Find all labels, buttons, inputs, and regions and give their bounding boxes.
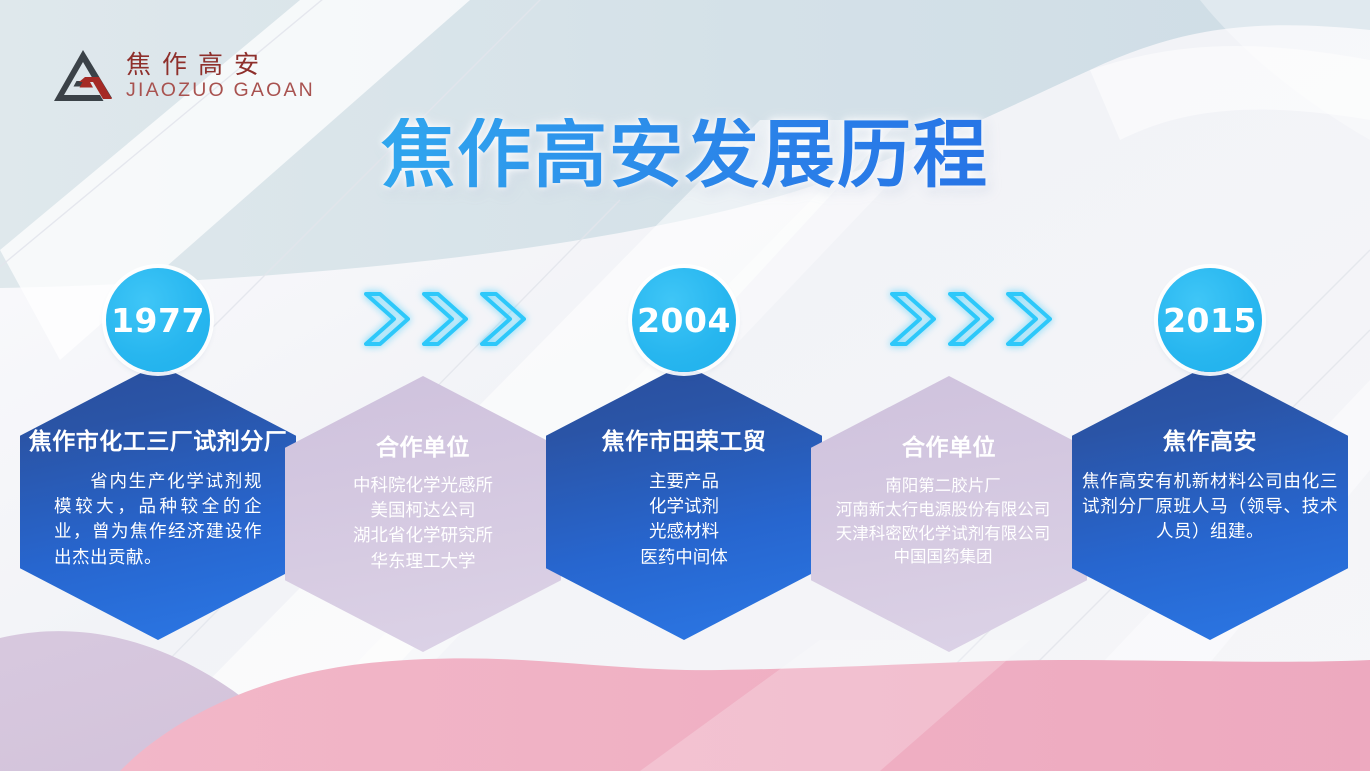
list-item: 化学试剂 (546, 495, 822, 520)
timeline-card-2004[interactable]: 焦作市田荣工贸 主要产品 化学试剂 光感材料 医药中间体 (546, 364, 822, 640)
chevron-right-icon (886, 288, 942, 350)
timeline: 1977 焦作市化工三厂试剂分厂 省内生产化学试剂规模较大，品种较全的企业，曾为… (0, 0, 1370, 771)
list-item: 美国柯达公司 (285, 499, 561, 524)
card-body: 主要产品 化学试剂 光感材料 医药中间体 (546, 470, 822, 571)
chevron-right-icon (418, 288, 474, 350)
list-item: 主要产品 (546, 470, 822, 495)
timeline-card-partners-2[interactable]: 合作单位 南阳第二胶片厂 河南新太行电源股份有限公司 天津科密欧化学试剂有限公司… (811, 376, 1087, 652)
timeline-card-partners-1[interactable]: 合作单位 中科院化学光感所 美国柯达公司 湖北省化学研究所 华东理工大学 (285, 376, 561, 652)
list-item: 中国国药集团 (793, 545, 1093, 569)
card-title: 焦作高安 (1163, 422, 1257, 456)
list-item: 华东理工大学 (285, 550, 561, 575)
chevron-right-icon (1002, 288, 1058, 350)
timeline-card-1977[interactable]: 焦作市化工三厂试剂分厂 省内生产化学试剂规模较大，品种较全的企业，曾为焦作经济建… (20, 364, 296, 640)
card-body: 南阳第二胶片厂 河南新太行电源股份有限公司 天津科密欧化学试剂有限公司 中国国药… (793, 474, 1093, 569)
chevron-right-icon (360, 288, 416, 350)
year-badge-2004[interactable]: 2004 (632, 268, 736, 372)
list-item: 南阳第二胶片厂 (793, 474, 1093, 498)
chevron-right-icon (476, 288, 532, 350)
card-body: 省内生产化学试剂规模较大，品种较全的企业，曾为焦作经济建设作出杰出贡献。 (54, 470, 262, 571)
year-badge-2015[interactable]: 2015 (1158, 268, 1262, 372)
timeline-card-2015[interactable]: 焦作高安 焦作高安有机新材料公司由化三试剂分厂原班人马（领导、技术人员）组建。 (1072, 364, 1348, 640)
list-item: 河南新太行电源股份有限公司 (793, 498, 1093, 522)
list-item: 中科院化学光感所 (285, 474, 561, 499)
list-item: 天津科密欧化学试剂有限公司 (793, 522, 1093, 546)
card-body: 焦作高安有机新材料公司由化三试剂分厂原班人马（领导、技术人员）组建。 (1082, 470, 1338, 546)
card-title: 焦作市田荣工贸 (602, 422, 767, 456)
connector-arrows-2 (886, 288, 1058, 350)
card-body: 中科院化学光感所 美国柯达公司 湖北省化学研究所 华东理工大学 (285, 474, 561, 575)
year-badge-1977[interactable]: 1977 (106, 268, 210, 372)
list-item: 光感材料 (546, 520, 822, 545)
list-item: 医药中间体 (546, 546, 822, 571)
card-title: 焦作市化工三厂试剂分厂 (29, 422, 288, 456)
card-title: 合作单位 (902, 428, 996, 462)
connector-arrows-1 (360, 288, 532, 350)
chevron-right-icon (944, 288, 1000, 350)
slide-canvas: 焦作高安 JIAOZUO GAOAN 焦作高安发展历程 1977 焦作市化工三厂… (0, 0, 1370, 771)
list-item: 湖北省化学研究所 (285, 524, 561, 549)
card-title: 合作单位 (376, 428, 470, 462)
